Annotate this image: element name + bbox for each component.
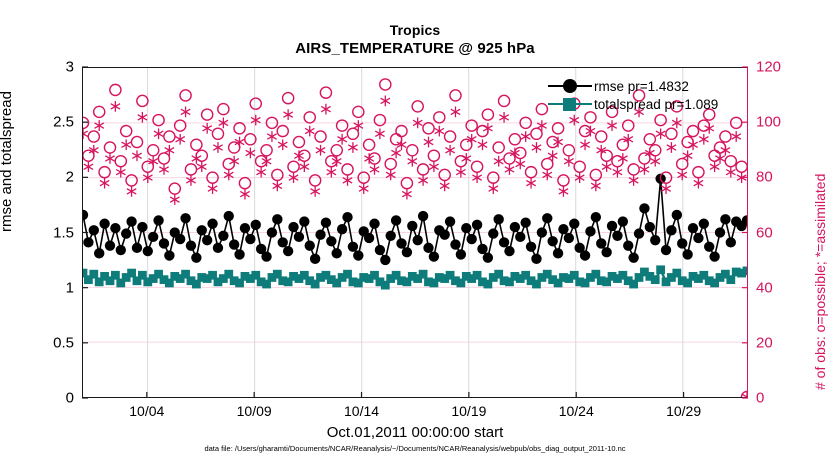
y-tick-left-1: 1 bbox=[66, 279, 74, 296]
x-tick-10-19: 10/19 bbox=[451, 403, 486, 419]
data-series-layer bbox=[83, 68, 747, 397]
y-axis-right-label: # of obs: o=possible; *=assimilated bbox=[812, 174, 828, 390]
y-tick-left-0: 0 bbox=[66, 390, 74, 407]
y-tick-left-1-5: 1.5 bbox=[53, 224, 74, 241]
y-tick-left-2-5: 2.5 bbox=[53, 114, 74, 131]
x-tick-10-09: 10/09 bbox=[237, 403, 272, 419]
y-axis-left-label: rmse and totalspread bbox=[0, 91, 15, 232]
legend-item-totalspread[interactable]: totalspread pr=1.089 bbox=[548, 95, 718, 113]
legend-item-rmse[interactable]: rmse pr=1.4832 bbox=[548, 77, 718, 95]
data-file-caption: data file: /Users/gharamti/Documents/NCA… bbox=[0, 444, 830, 453]
x-tick-10-14: 10/14 bbox=[344, 403, 379, 419]
legend-marker-square-icon bbox=[563, 98, 576, 111]
legend-marker-circle-icon bbox=[563, 79, 577, 93]
x-tick-10-24: 10/24 bbox=[559, 403, 594, 419]
x-tick-10-04: 10/04 bbox=[129, 403, 164, 419]
y-tick-right-80: 80 bbox=[756, 169, 773, 186]
chart-title-main: Tropics bbox=[82, 22, 748, 40]
y-tick-right-20: 20 bbox=[756, 334, 773, 351]
figure-canvas: Tropics AIRS_TEMPERATURE @ 925 hPa 00.51… bbox=[0, 0, 830, 470]
legend-label-rmse: rmse pr=1.4832 bbox=[592, 79, 689, 94]
legend-label-totalspread: totalspread pr=1.089 bbox=[592, 97, 718, 112]
chart-legend: rmse pr=1.4832 totalspread pr=1.089 bbox=[548, 77, 718, 113]
y-tick-left-0-5: 0.5 bbox=[53, 334, 74, 351]
y-tick-right-100: 100 bbox=[756, 114, 781, 131]
y-tick-right-40: 40 bbox=[756, 279, 773, 296]
y-tick-right-0: 0 bbox=[756, 390, 764, 407]
plot-area bbox=[82, 67, 748, 398]
legend-swatch-rmse bbox=[548, 77, 592, 95]
y-tick-left-2: 2 bbox=[66, 169, 74, 186]
y-tick-right-60: 60 bbox=[756, 224, 773, 241]
y-tick-left-3: 3 bbox=[66, 59, 74, 76]
y-tick-right-120: 120 bbox=[756, 59, 781, 76]
x-tick-10-29: 10/29 bbox=[666, 403, 701, 419]
chart-title-block: Tropics AIRS_TEMPERATURE @ 925 hPa bbox=[82, 22, 748, 58]
x-axis-label: Oct.01,2011 00:00:00 start bbox=[82, 424, 748, 441]
chart-title-sub: AIRS_TEMPERATURE @ 925 hPa bbox=[82, 40, 748, 59]
legend-swatch-totalspread bbox=[548, 95, 592, 113]
